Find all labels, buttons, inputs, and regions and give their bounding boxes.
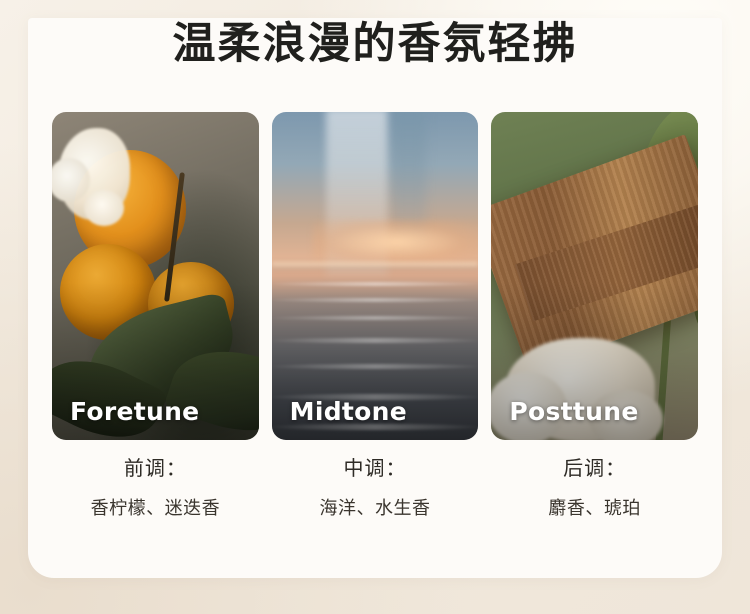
note-card-foretune[interactable]: Foretune: [52, 112, 259, 440]
image-vignette: [272, 112, 479, 440]
note-label: 中调：: [272, 452, 479, 481]
note-card-midtone[interactable]: Midtone: [272, 112, 479, 440]
note-ingredients: 海洋、水生香: [272, 494, 479, 520]
image-vignette: [491, 112, 698, 440]
note-card-caption: Midtone: [290, 397, 407, 426]
note-text-row: 前调： 香柠檬、迷迭香 中调： 海洋、水生香 后调： 麝香、琥珀: [52, 452, 698, 520]
fragrance-notes-banner: 温柔浪漫的香氛轻拂 Foretune: [0, 0, 750, 614]
note-card-caption: Posttune: [509, 397, 638, 426]
note-text-posttune: 后调： 麝香、琥珀: [491, 452, 698, 520]
note-card-caption: Foretune: [70, 397, 199, 426]
note-text-midtone: 中调： 海洋、水生香: [272, 452, 479, 520]
note-text-foretune: 前调： 香柠檬、迷迭香: [52, 452, 259, 520]
note-label: 前调：: [52, 452, 259, 481]
image-vignette: [52, 112, 259, 440]
note-label: 后调：: [491, 452, 698, 481]
note-ingredients: 麝香、琥珀: [491, 494, 698, 520]
note-ingredients: 香柠檬、迷迭香: [52, 494, 259, 520]
note-image-row: Foretune Midtone: [52, 112, 698, 440]
page-title: 温柔浪漫的香氛轻拂: [0, 20, 750, 69]
note-card-posttune[interactable]: Posttune: [491, 112, 698, 440]
